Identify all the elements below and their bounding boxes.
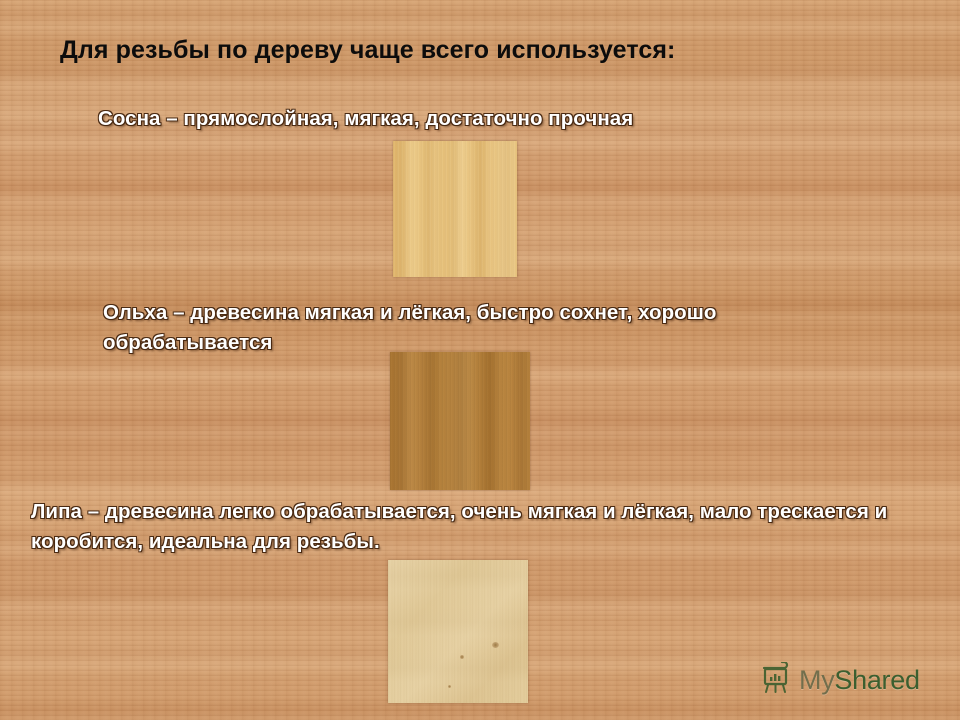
brand-shared: Shared <box>834 665 919 695</box>
pine-wood-sample-image <box>393 141 517 277</box>
linden-description-text: Липа – древесина легко обрабатывается, о… <box>31 497 911 556</box>
presentation-slide: Для резьбы по дереву чаще всего использу… <box>0 0 960 720</box>
slide-title: Для резьбы по дереву чаще всего использу… <box>60 36 920 65</box>
alder-description-text: Ольха – древесина мягкая и лёгкая, быстр… <box>103 298 803 357</box>
wood-knot <box>448 685 451 688</box>
linden-wood-sample-image <box>388 560 528 703</box>
pine-description-text: Сосна – прямослойная, мягкая, достаточно… <box>98 104 888 134</box>
alder-wood-sample-image <box>390 352 530 490</box>
wood-knot <box>460 655 464 659</box>
brand-my: My <box>799 665 834 695</box>
presentation-chart-icon <box>762 662 792 699</box>
wood-knot <box>492 642 499 648</box>
myshared-brand-text: MyShared <box>799 665 920 696</box>
myshared-watermark: MyShared <box>762 662 920 699</box>
